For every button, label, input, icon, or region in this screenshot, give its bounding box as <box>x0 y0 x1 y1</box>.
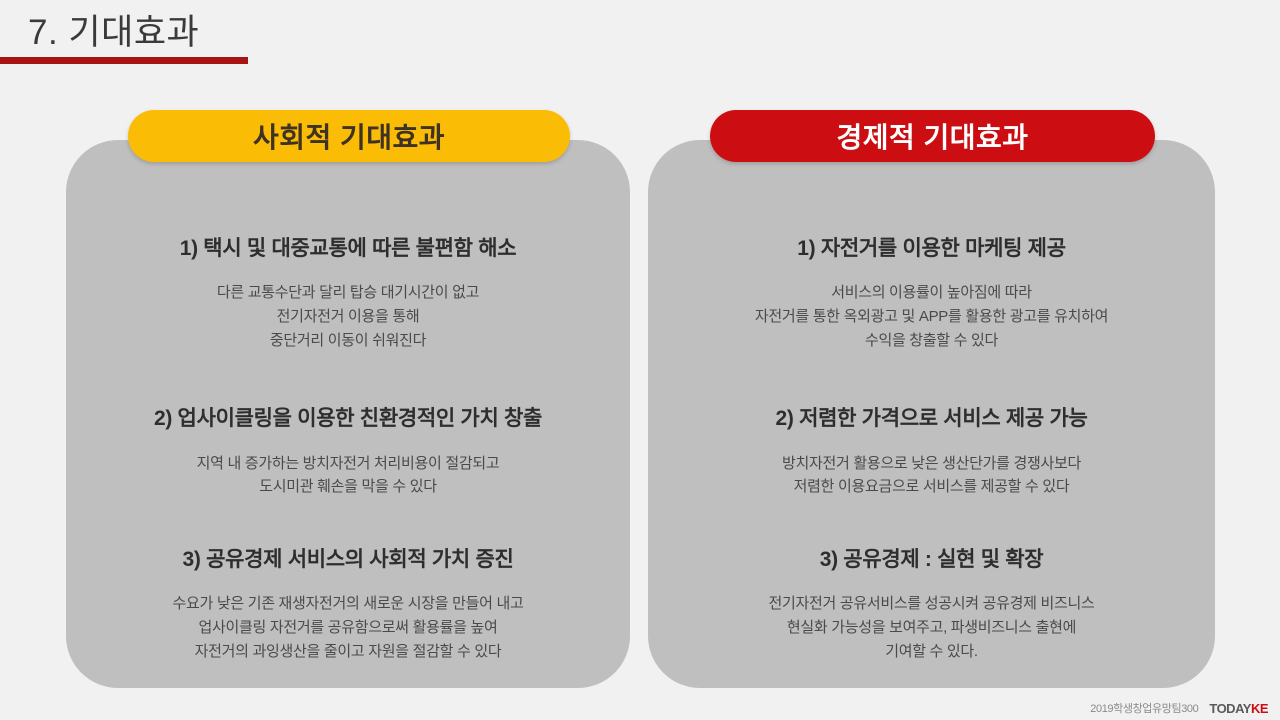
section-heading: 1) 택시 및 대중교통에 따른 불편함 해소 <box>80 236 616 262</box>
body-line: 자전거를 통한 옥외광고 및 APP를 활용한 광고를 유치하여 <box>662 305 1201 329</box>
body-line: 방치자전거 활용으로 낮은 생산단가를 경쟁사보다 <box>662 452 1201 476</box>
page-title: 7. 기대효과 <box>28 4 199 55</box>
footer-logo-primary: TODAY <box>1209 701 1251 716</box>
section-heading: 3) 공유경제 : 실현 및 확장 <box>662 547 1201 573</box>
section-social-2: 2) 업사이클링을 이용한 친환경적인 가치 창출 지역 내 증가하는 방치자전… <box>80 406 616 499</box>
panel-social-sections: 1) 택시 및 대중교통에 따른 불편함 해소 다른 교통수단과 달리 탑승 대… <box>66 140 630 688</box>
body-line: 현실화 가능성을 보여주고, 파생비즈니스 출현에 <box>662 616 1201 640</box>
section-body: 전기자전거 공유서비스를 성공시켜 공유경제 비즈니스 현실화 가능성을 보여주… <box>662 592 1201 663</box>
body-line: 자전거의 과잉생산을 줄이고 자원을 절감할 수 있다 <box>80 640 616 664</box>
body-line: 서비스의 이용률이 높아짐에 따라 <box>662 281 1201 305</box>
section-heading: 1) 자전거를 이용한 마케팅 제공 <box>662 236 1201 262</box>
body-line: 전기자전거 공유서비스를 성공시켜 공유경제 비즈니스 <box>662 592 1201 616</box>
body-line: 수익을 창출할 수 있다 <box>662 329 1201 353</box>
body-line: 도시미관 훼손을 막을 수 있다 <box>80 475 616 499</box>
section-body: 서비스의 이용률이 높아짐에 따라 자전거를 통한 옥외광고 및 APP를 활용… <box>662 281 1201 352</box>
body-line: 저렴한 이용요금으로 서비스를 제공할 수 있다 <box>662 475 1201 499</box>
slide-root: 7. 기대효과 1) 택시 및 대중교통에 따른 불편함 해소 다른 교통수단과… <box>0 0 1280 720</box>
footer-logo: TODAYKE <box>1209 701 1268 716</box>
section-economic-3: 3) 공유경제 : 실현 및 확장 전기자전거 공유서비스를 성공시켜 공유경제… <box>662 547 1201 663</box>
section-body: 다른 교통수단과 달리 탑승 대기시간이 없고 전기자전거 이용을 통해 중단거… <box>80 281 616 352</box>
footer-logo-accent: KE <box>1251 701 1268 716</box>
section-social-1: 1) 택시 및 대중교통에 따른 불편함 해소 다른 교통수단과 달리 탑승 대… <box>80 236 616 352</box>
badge-economic-expected-effects: 경제적 기대효과 <box>710 110 1155 162</box>
footer-team-label: 2019학생창업유망팀300 <box>1090 700 1198 716</box>
footer: 2019학생창업유망팀300 TODAYKE <box>1090 700 1268 716</box>
body-line: 다른 교통수단과 달리 탑승 대기시간이 없고 <box>80 281 616 305</box>
body-line: 중단거리 이동이 쉬워진다 <box>80 329 616 353</box>
section-body: 지역 내 증가하는 방치자전거 처리비용이 절감되고 도시미관 훼손을 막을 수… <box>80 452 616 499</box>
section-social-3: 3) 공유경제 서비스의 사회적 가치 증진 수요가 낮은 기존 재생자전거의 … <box>80 547 616 663</box>
section-heading: 2) 업사이클링을 이용한 친환경적인 가치 창출 <box>80 406 616 432</box>
section-body: 방치자전거 활용으로 낮은 생산단가를 경쟁사보다 저렴한 이용요금으로 서비스… <box>662 452 1201 499</box>
body-line: 기여할 수 있다. <box>662 640 1201 664</box>
body-line: 지역 내 증가하는 방치자전거 처리비용이 절감되고 <box>80 452 616 476</box>
panel-social: 1) 택시 및 대중교통에 따른 불편함 해소 다른 교통수단과 달리 탑승 대… <box>66 140 630 688</box>
body-line: 전기자전거 이용을 통해 <box>80 305 616 329</box>
section-economic-2: 2) 저렴한 가격으로 서비스 제공 가능 방치자전거 활용으로 낮은 생산단가… <box>662 406 1201 499</box>
section-heading: 3) 공유경제 서비스의 사회적 가치 증진 <box>80 547 616 573</box>
section-economic-1: 1) 자전거를 이용한 마케팅 제공 서비스의 이용률이 높아짐에 따라 자전거… <box>662 236 1201 352</box>
badge-social-expected-effects: 사회적 기대효과 <box>128 110 570 162</box>
panel-economic-sections: 1) 자전거를 이용한 마케팅 제공 서비스의 이용률이 높아짐에 따라 자전거… <box>648 140 1215 688</box>
body-line: 수요가 낮은 기존 재생자전거의 새로운 시장을 만들어 내고 <box>80 592 616 616</box>
section-heading: 2) 저렴한 가격으로 서비스 제공 가능 <box>662 406 1201 432</box>
section-body: 수요가 낮은 기존 재생자전거의 새로운 시장을 만들어 내고 업사이클링 자전… <box>80 592 616 663</box>
title-underline-rule <box>0 57 248 64</box>
body-line: 업사이클링 자전거를 공유함으로써 활용률을 높여 <box>80 616 616 640</box>
panel-economic: 1) 자전거를 이용한 마케팅 제공 서비스의 이용률이 높아짐에 따라 자전거… <box>648 140 1215 688</box>
